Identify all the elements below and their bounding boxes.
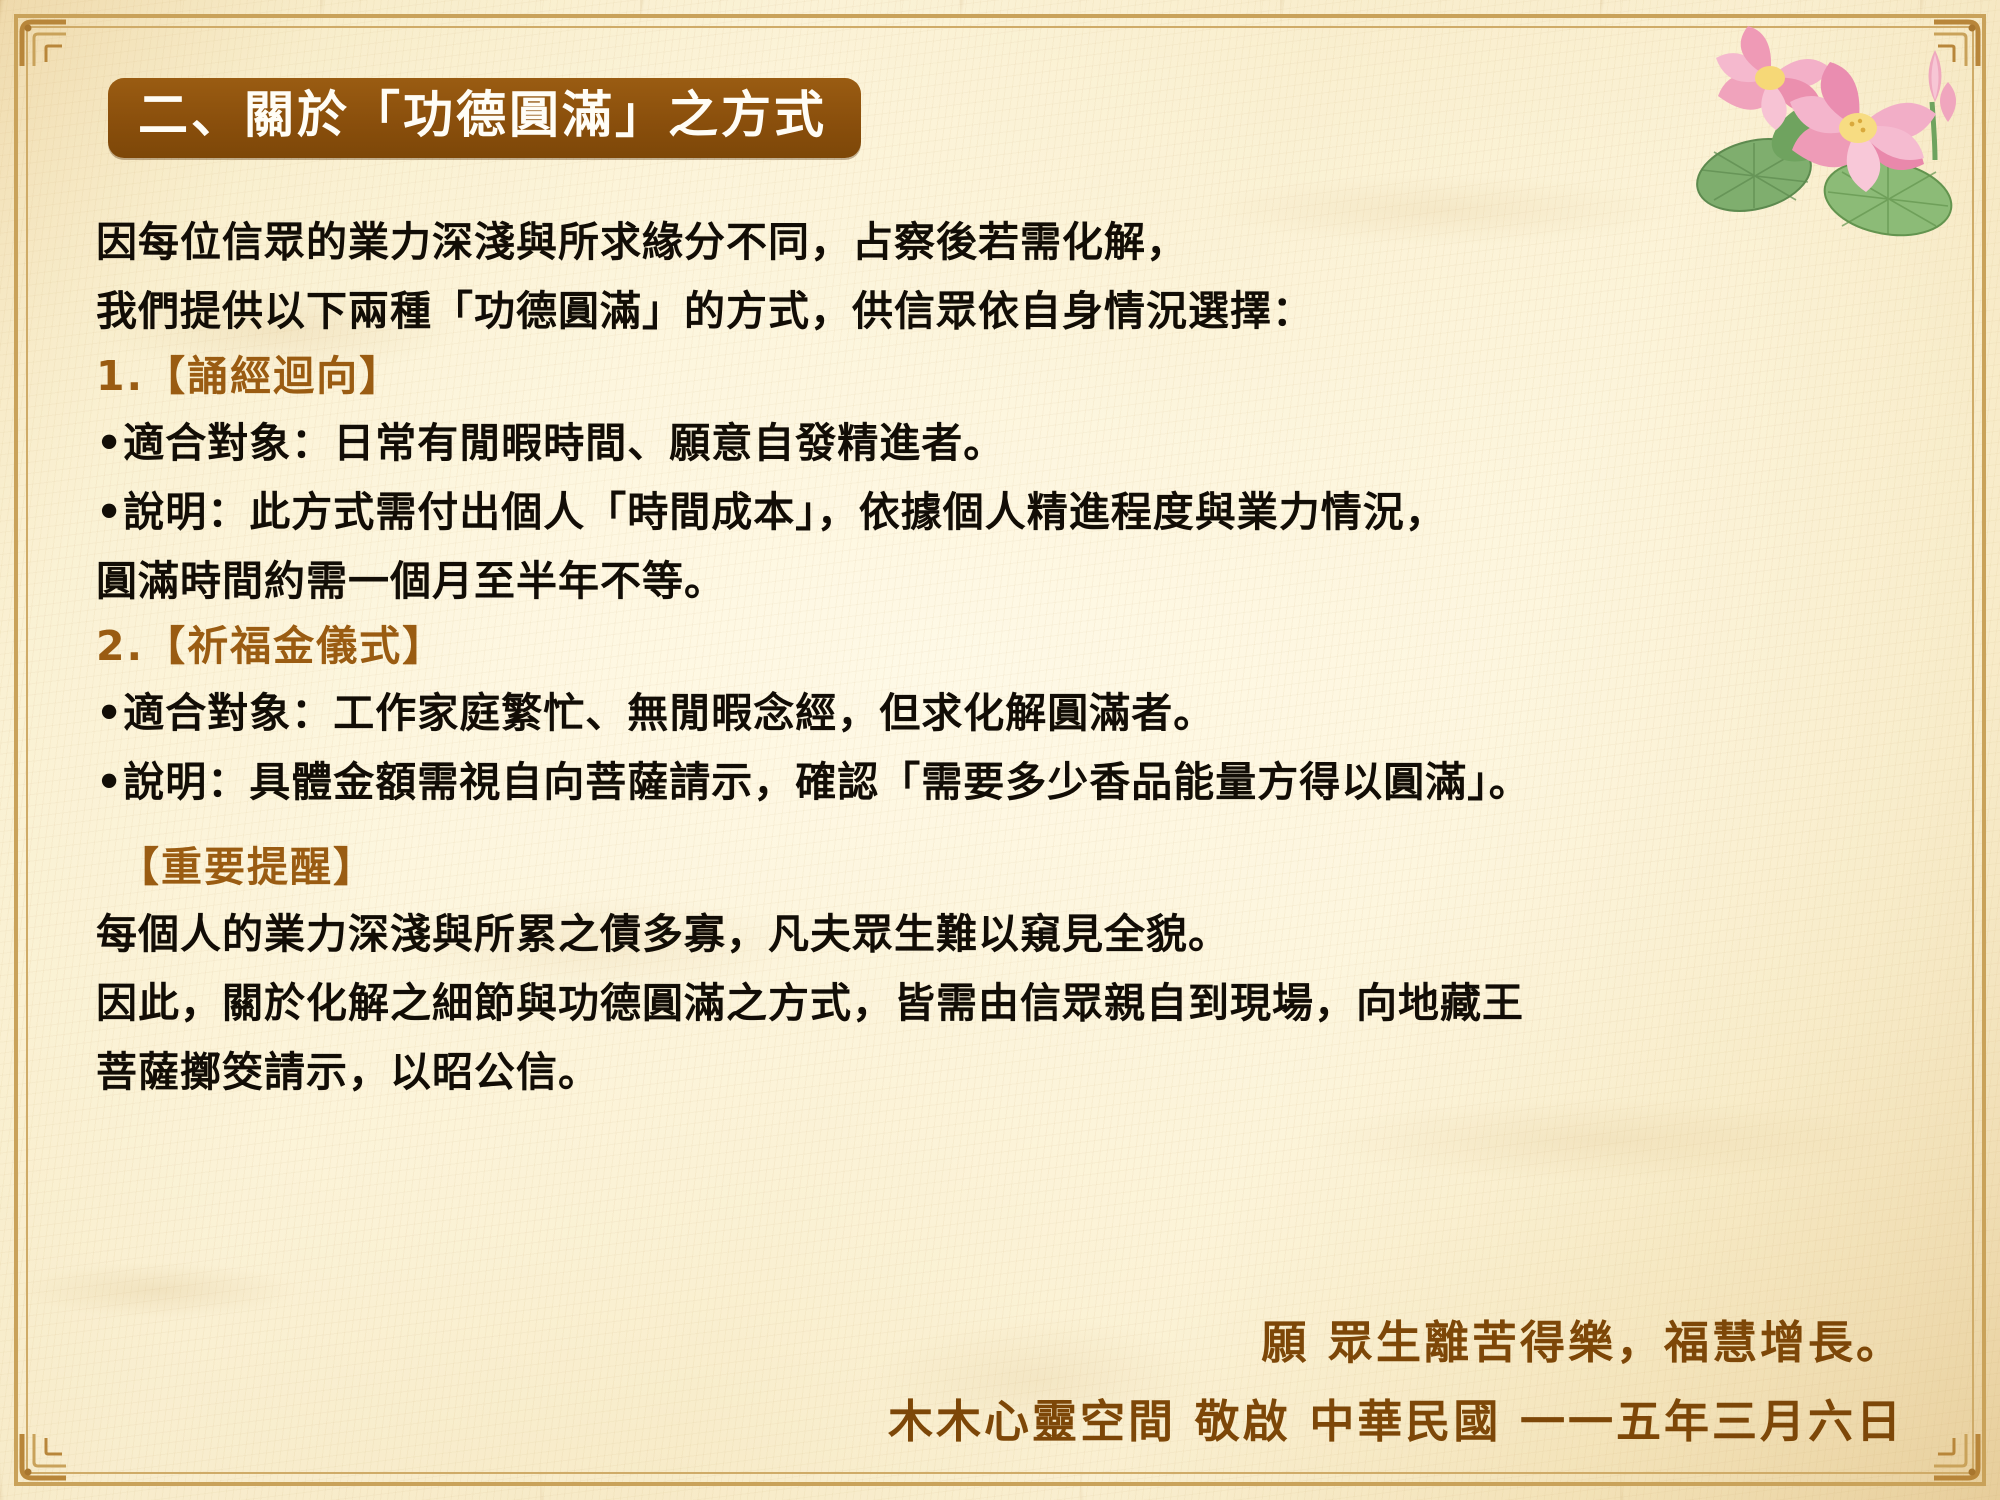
notice-line: 每個人的業力深淺與所累之債多寡，凡夫眾生難以窺見全貌。	[96, 914, 1926, 955]
intro-line: 我們提供以下兩種「功德圓滿」的方式，供信眾依自身情況選擇：	[96, 291, 1926, 332]
option-2-line: •說明：具體金額需視自向菩薩請示，確認「需要多少香品能量方得以圓滿」。	[96, 762, 1926, 803]
option-1-line: 圓滿時間約需一個月至半年不等。	[96, 561, 1926, 602]
option-heading-1: 1.【誦經迴向】	[96, 356, 1926, 397]
corner-ornament-icon	[1892, 1392, 1984, 1484]
corner-ornament-icon	[1892, 16, 1984, 108]
option-heading-2: 2.【祈福金儀式】	[96, 626, 1926, 667]
notice-line: 因此，關於化解之細節與功德圓滿之方式，皆需由信眾親自到現場，向地藏王	[96, 983, 1926, 1024]
slide-canvas: 二、關於「功德圓滿」之方式 因每位信眾的業力深淺與所求緣分不同，占察後若需化解，…	[0, 0, 2000, 1500]
option-2-line: •適合對象：工作家庭繁忙、無閒暇念經，但求化解圓滿者。	[96, 693, 1926, 734]
option-1-line: •說明：此方式需付出個人「時間成本」，依據個人精進程度與業力情況，	[96, 492, 1926, 533]
title-container: 二、關於「功德圓滿」之方式	[108, 78, 861, 158]
body-content: 因每位信眾的業力深淺與所求緣分不同，占察後若需化解， 我們提供以下兩種「功德圓滿…	[96, 222, 1926, 1121]
page-title: 二、關於「功德圓滿」之方式	[108, 78, 861, 158]
signoff-text: 木木心靈空間 敬啟 中華民國 一一五年三月六日	[404, 1399, 1904, 1444]
notice-heading: 【重要提醒】	[118, 847, 1926, 888]
blessing-text: 願 眾生離苦得樂，福慧增長。	[404, 1320, 1904, 1365]
notice-line: 菩薩擲筊請示，以昭公信。	[96, 1052, 1926, 1093]
corner-ornament-icon	[16, 16, 108, 108]
option-1-line: •適合對象：日常有閒暇時間、願意自發精進者。	[96, 423, 1926, 464]
corner-ornament-icon	[16, 1392, 108, 1484]
closing-block: 願 眾生離苦得樂，福慧增長。 木木心靈空間 敬啟 中華民國 一一五年三月六日	[404, 1320, 1904, 1444]
intro-line: 因每位信眾的業力深淺與所求緣分不同，占察後若需化解，	[96, 222, 1926, 263]
